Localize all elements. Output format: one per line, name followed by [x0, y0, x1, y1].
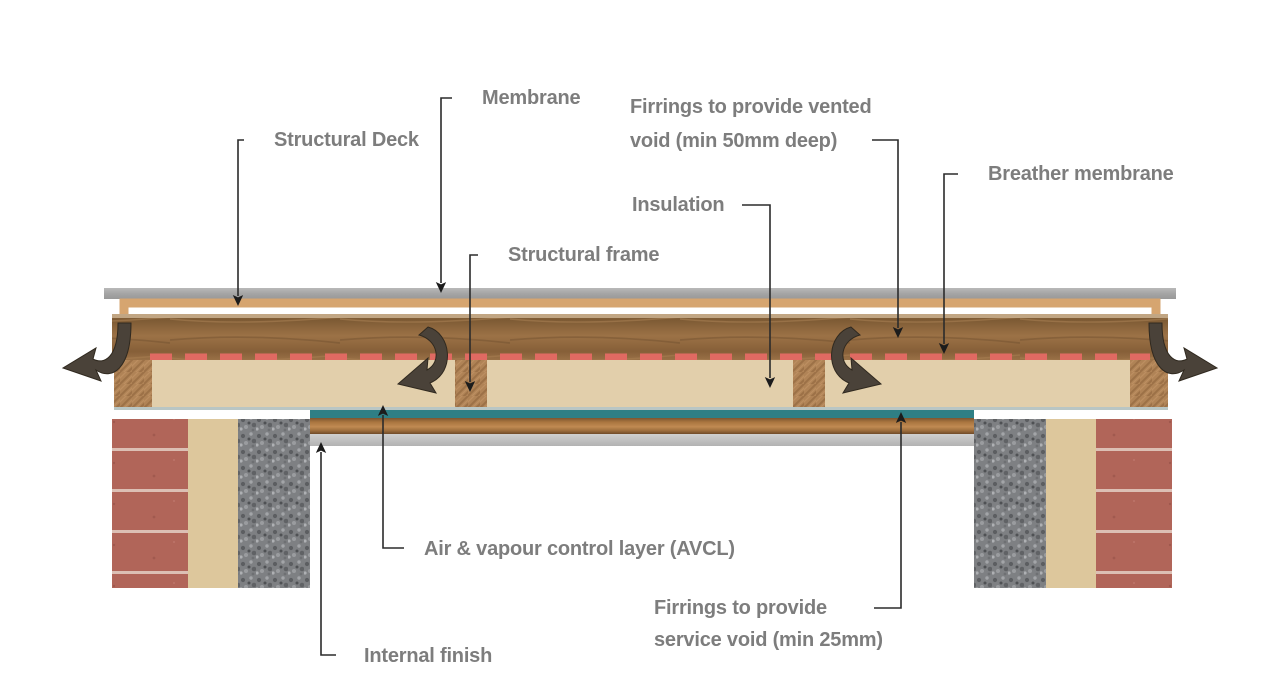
- cavity-insulation-left: [188, 419, 238, 588]
- wall-left: [112, 419, 310, 588]
- label-firrings-service-line2: service void (min 25mm): [654, 629, 883, 651]
- label-internal-finish: Internal finish: [364, 645, 492, 667]
- wall-right: [974, 419, 1172, 588]
- diagram-canvas: Structural Deck Membrane Firrings to pro…: [0, 0, 1280, 685]
- blockwork-inner-leaf-left: [238, 419, 310, 588]
- brick-outer-leaf-left: [112, 419, 188, 588]
- blockwork-inner-leaf-right: [974, 419, 1046, 588]
- label-membrane: Membrane: [482, 87, 581, 109]
- leader-structural-deck: [238, 140, 244, 296]
- label-structural-frame: Structural frame: [508, 244, 659, 266]
- service-void-firrings: [310, 418, 974, 434]
- label-breather-membrane: Breather membrane: [988, 163, 1174, 185]
- leader-firrings-service: [874, 422, 901, 608]
- insulation-layer: [150, 360, 1150, 409]
- structural-deck-layer: [112, 314, 1168, 360]
- rafter: [455, 360, 487, 409]
- label-firrings-vented-line2: void (min 50mm deep): [630, 130, 837, 152]
- label-firrings-vented-line1: Firrings to provide vented: [630, 96, 872, 118]
- rafter: [793, 360, 825, 409]
- cavity-insulation-right: [1046, 419, 1096, 588]
- label-avcl: Air & vapour control layer (AVCL): [424, 538, 735, 560]
- brick-outer-leaf-right: [1096, 419, 1172, 588]
- membrane-layer: [104, 288, 1176, 299]
- label-firrings-service-line1: Firrings to provide: [654, 597, 827, 619]
- leader-membrane: [441, 98, 452, 283]
- label-insulation: Insulation: [632, 194, 724, 216]
- internal-finish-layer: [310, 434, 974, 446]
- structural-deck-shadowline: [112, 314, 1168, 318]
- ceiling-assembly: [310, 408, 974, 446]
- label-structural-deck: Structural Deck: [274, 129, 420, 151]
- leader-internal-finish: [321, 452, 336, 655]
- insulation-underline: [114, 407, 1168, 410]
